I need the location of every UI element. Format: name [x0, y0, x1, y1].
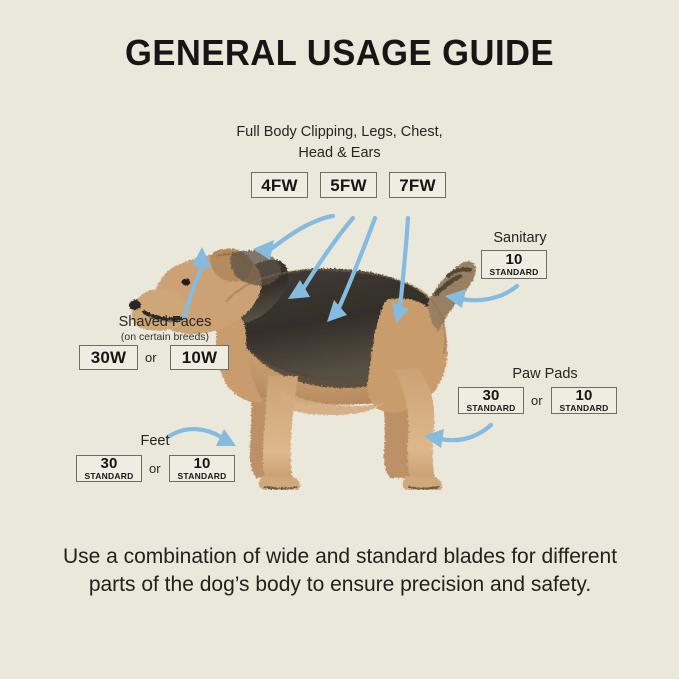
badge-paw-pads-10-type: STANDARD [559, 404, 608, 413]
badge-feet-30-type: STANDARD [84, 472, 133, 481]
badge-4fw-value: 4FW [261, 177, 297, 194]
usage-guide-poster: GENERAL USAGE GUIDE [0, 0, 679, 679]
badge-paw-pads-10-standard[interactable]: 10 STANDARD [551, 387, 617, 414]
feet-or: or [149, 461, 161, 476]
badge-paw-pads-30-standard[interactable]: 30 STANDARD [458, 387, 524, 414]
paw-pads-label: Paw Pads [460, 364, 630, 385]
shaved-faces-sublabel: (on certain breeds) [75, 331, 255, 343]
badge-7fw[interactable]: 7FW [389, 172, 446, 198]
badge-sanitary-10-standard[interactable]: 10 STANDARD [481, 250, 547, 279]
badge-30w-value: 30W [91, 349, 127, 366]
badge-7fw-value: 7FW [399, 177, 435, 194]
badge-feet-10-type: STANDARD [177, 472, 226, 481]
page-title: GENERAL USAGE GUIDE [14, 32, 666, 74]
badge-feet-30-standard[interactable]: 30 STANDARD [76, 455, 142, 482]
fullbody-label-line2: Head & Ears [0, 143, 679, 164]
badge-feet-30-number: 30 [100, 456, 117, 471]
badge-paw-pads-30-number: 30 [482, 388, 499, 403]
badge-10w-value: 10W [182, 349, 218, 366]
sanitary-label: Sanitary [455, 228, 585, 249]
footer-caption: Use a combination of wide and standard b… [60, 543, 620, 599]
badge-4fw[interactable]: 4FW [251, 172, 308, 198]
badge-feet-10-standard[interactable]: 10 STANDARD [169, 455, 235, 482]
badge-paw-pads-30-type: STANDARD [466, 404, 515, 413]
badge-sanitary-type: STANDARD [489, 268, 538, 277]
shaved-faces-label: Shaved Faces [75, 312, 255, 333]
paw-pads-or: or [531, 393, 543, 408]
fullbody-label-line1: Full Body Clipping, Legs, Chest, [0, 122, 679, 143]
badge-feet-10-number: 10 [193, 456, 210, 471]
badge-30w[interactable]: 30W [79, 345, 138, 370]
badge-paw-pads-10-number: 10 [575, 388, 592, 403]
feet-label: Feet [80, 431, 230, 452]
badge-5fw-value: 5FW [330, 177, 366, 194]
badge-10w[interactable]: 10W [170, 345, 229, 370]
shaved-faces-or: or [145, 350, 157, 365]
badge-sanitary-number: 10 [505, 252, 522, 267]
badge-5fw[interactable]: 5FW [320, 172, 377, 198]
